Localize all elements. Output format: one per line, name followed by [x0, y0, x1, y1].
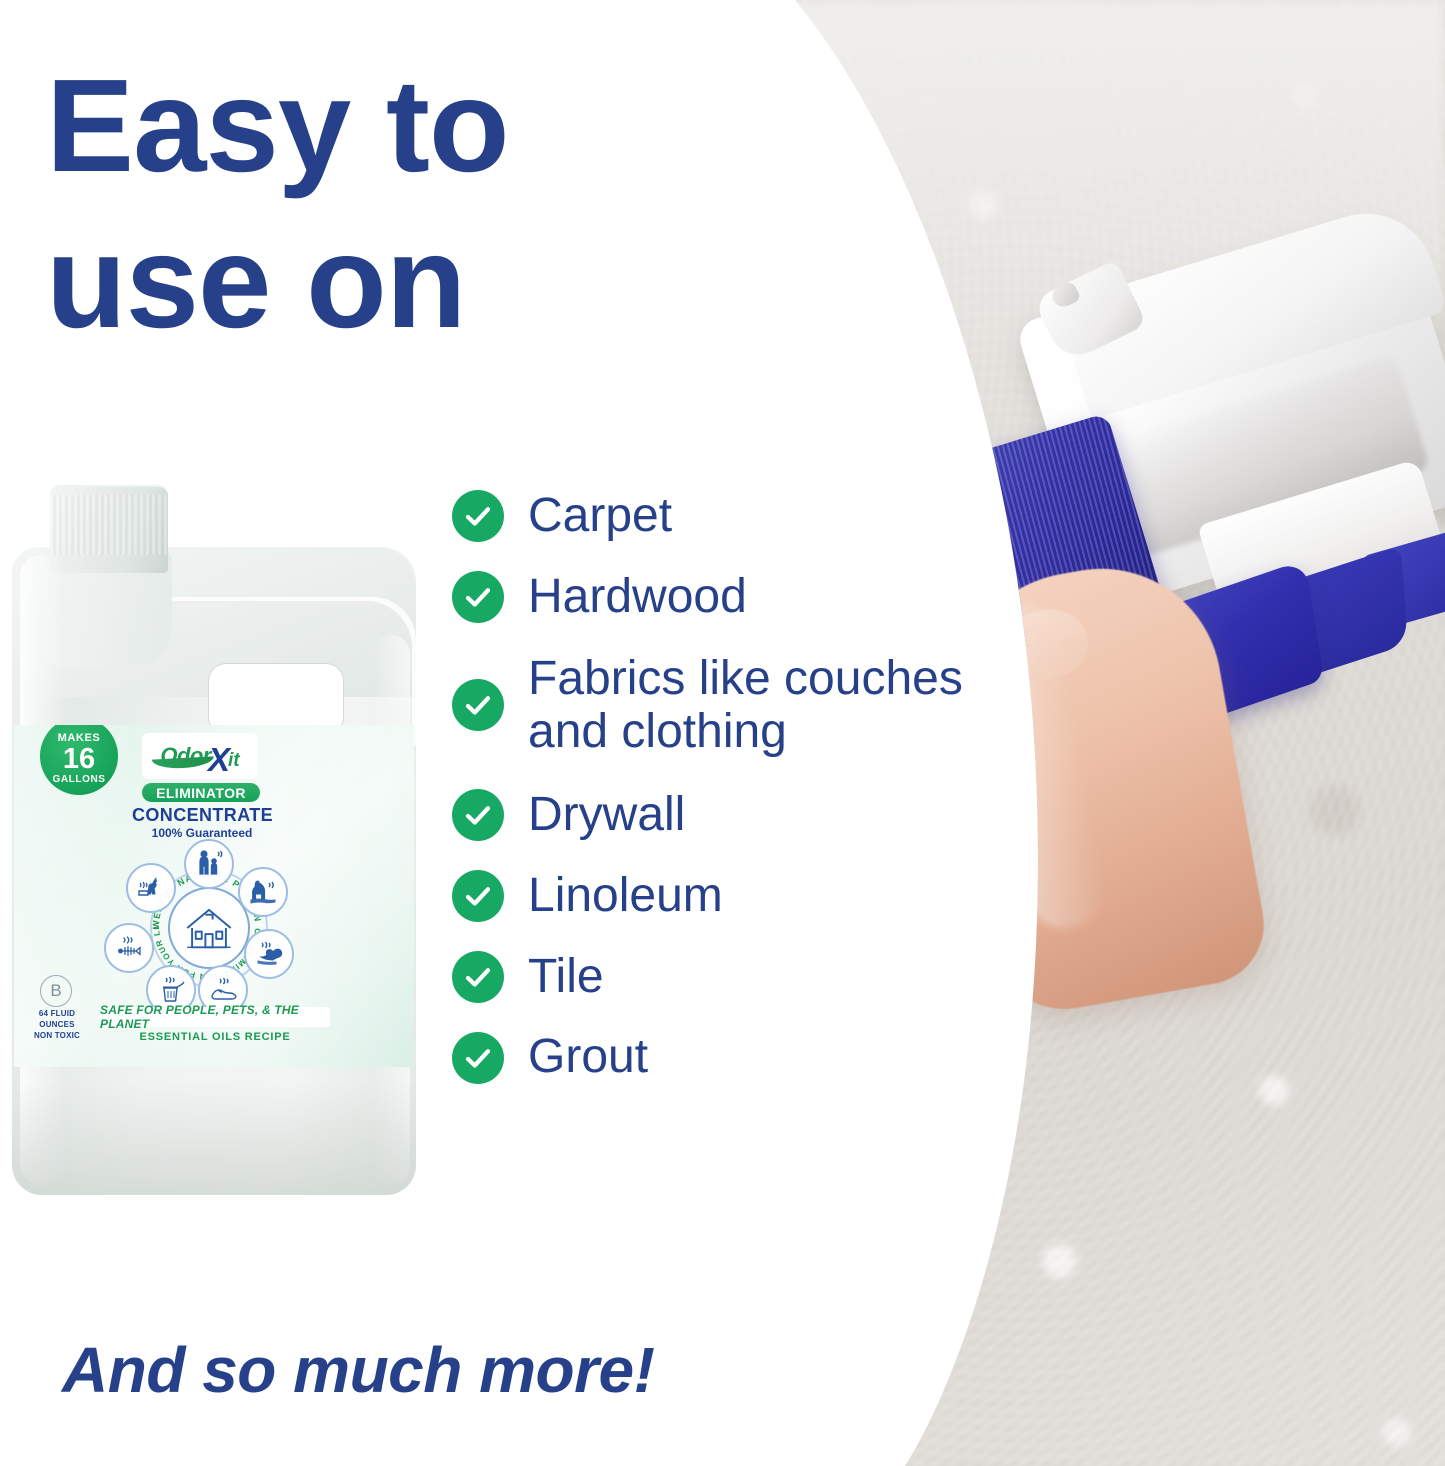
volume-text: 64 FLUID OUNCES NON TOXIC [26, 1009, 88, 1041]
recycle-code-icon: B [40, 975, 72, 1007]
closing-tagline: And so much more! [62, 1333, 654, 1407]
check-icon [452, 490, 504, 542]
list-item[interactable]: Grout [452, 1031, 1052, 1084]
logo-it-text: it [228, 750, 240, 772]
list-item-label: Fabrics like couches and clothing [528, 652, 963, 760]
cat-litter-box-icon [126, 863, 176, 913]
check-icon [452, 789, 504, 841]
product-bottle: MAKES 16 GALLONS Odor X it ELIMINATOR CO… [12, 485, 424, 1197]
skunk-icon [244, 929, 294, 979]
product-infographic: Easy to use on Carpet Hardwood Fabrics l… [0, 0, 1445, 1466]
list-item-label: Hardwood [528, 571, 747, 624]
list-item-label: Carpet [528, 490, 672, 543]
concentrate-text: CONCENTRATE [132, 805, 272, 826]
surfaces-checklist: Carpet Hardwood Fabrics like couches and… [452, 490, 1052, 1112]
list-item[interactable]: Linoleum [452, 870, 1052, 923]
list-item-label: Drywall [528, 789, 685, 842]
odor-sources-ring: POWERFUL NATURAL PERMANENT ODOR ELIMINAT… [112, 843, 302, 1011]
list-item[interactable]: Carpet [452, 490, 1052, 543]
page-title: Easy to use on [46, 48, 746, 360]
check-icon [452, 870, 504, 922]
list-item[interactable]: Fabrics like couches and clothing [452, 652, 1052, 760]
list-item[interactable]: Hardwood [452, 571, 1052, 624]
person-and-child-icon [184, 839, 234, 889]
badge-number: 16 [63, 745, 95, 774]
fish-bones-icon [104, 923, 154, 973]
list-item-label: Tile [528, 951, 604, 1004]
list-item-label: Linoleum [528, 870, 723, 923]
check-icon [452, 571, 504, 623]
bottle-base-shadow [12, 1081, 416, 1195]
essential-oils-text: ESSENTIAL OILS RECIPE [100, 1031, 330, 1043]
check-icon [452, 1032, 504, 1084]
house-icon [168, 887, 250, 969]
eliminator-pill: ELIMINATOR [142, 783, 260, 802]
check-icon [452, 951, 504, 1003]
guarantee-text: 100% Guaranteed [132, 826, 272, 840]
brand-logo: Odor X it [142, 733, 258, 779]
list-item[interactable]: Tile [452, 951, 1052, 1004]
list-item[interactable]: Drywall [452, 789, 1052, 842]
check-icon [452, 679, 504, 731]
dog-icon [238, 867, 288, 917]
product-label: MAKES 16 GALLONS Odor X it ELIMINATOR CO… [14, 725, 414, 1067]
bottle-cap-ridges [50, 495, 168, 555]
list-item-label: Grout [528, 1031, 648, 1084]
badge-bottom-text: GALLONS [52, 775, 105, 785]
safe-claim-banner: SAFE FOR PEOPLE, PETS, & THE PLANET [100, 1007, 330, 1027]
